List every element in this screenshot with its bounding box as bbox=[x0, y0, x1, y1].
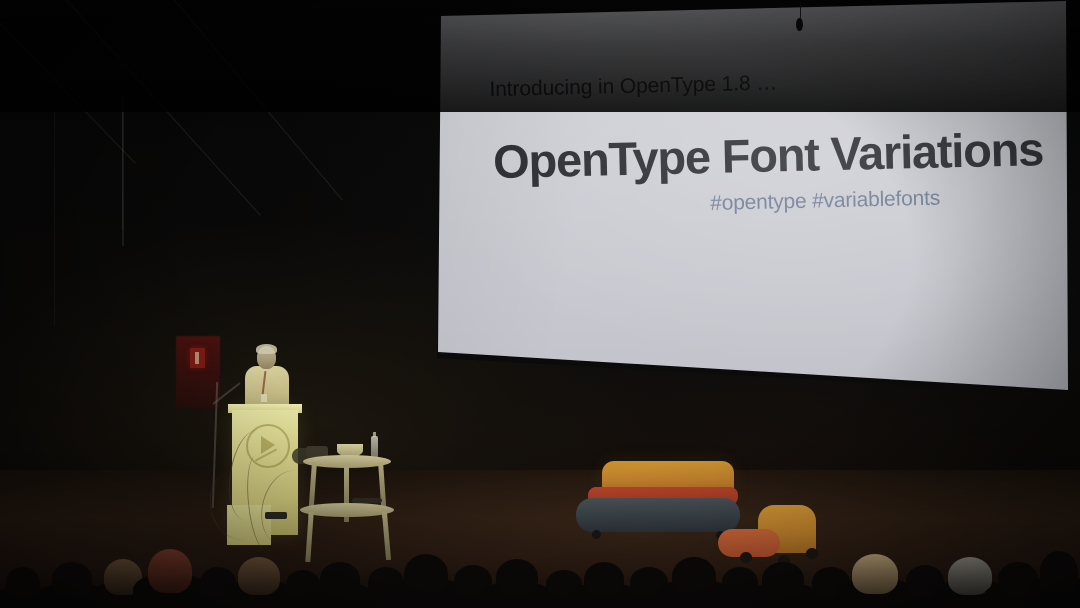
equipment-table-shelf bbox=[300, 503, 394, 517]
bench-foot bbox=[592, 530, 601, 539]
ceiling-microphone-icon bbox=[796, 18, 803, 31]
armchair-foot bbox=[778, 555, 790, 566]
slide-hashtags: #opentype #variablefonts bbox=[710, 187, 940, 216]
truss-pole bbox=[122, 96, 124, 246]
projection-screen: Introducing in OpenType 1.8 … OpenType F… bbox=[434, 0, 1070, 394]
slide-title: OpenType Font Variations bbox=[493, 121, 1044, 189]
handheld-microphone bbox=[352, 498, 382, 503]
stage-floor bbox=[0, 470, 1080, 608]
slide-subtitle: Introducing in OpenType 1.8 … bbox=[489, 71, 777, 102]
badge bbox=[261, 394, 267, 402]
fire-extinguisher-icon bbox=[190, 348, 205, 368]
armchair-foot bbox=[806, 548, 818, 559]
wall-panel bbox=[176, 336, 220, 408]
rigging-line bbox=[54, 95, 55, 325]
presenter-hair bbox=[256, 344, 277, 354]
slide: Introducing in OpenType 1.8 … OpenType F… bbox=[434, 0, 1070, 394]
armchair-foot bbox=[740, 552, 752, 563]
screenshot-frame: Introducing in OpenType 1.8 … OpenType F… bbox=[0, 0, 1080, 608]
bench-seat bbox=[576, 498, 740, 532]
